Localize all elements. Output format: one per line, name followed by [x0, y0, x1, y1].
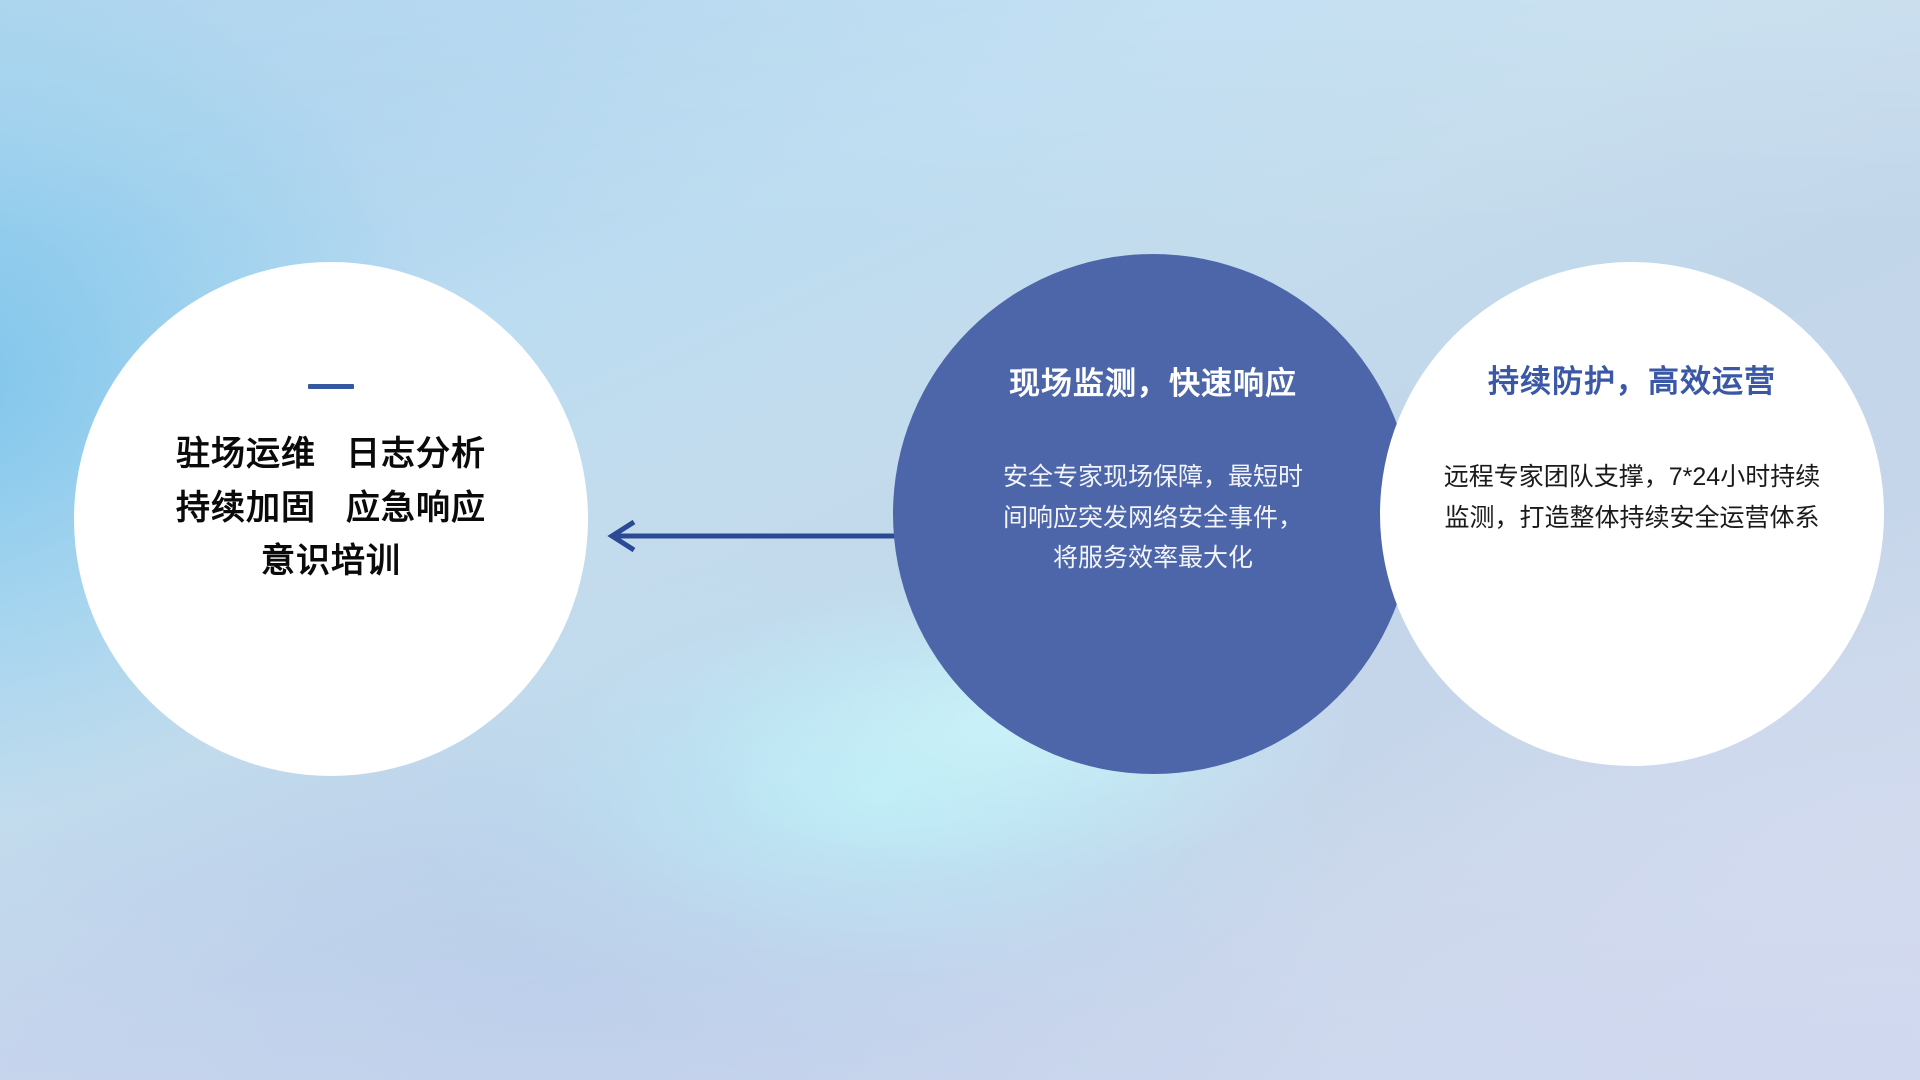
keyword-label: 持续加固 — [176, 489, 316, 527]
continuous-protection-body: 远程专家团队支撑，7*24小时持续监测，打造整体持续安全运营体系 — [1437, 457, 1827, 538]
arrow-left-icon — [600, 516, 900, 556]
keyword-label: 日志分析 — [346, 435, 486, 473]
keyword-row: 持续加固应急响应 — [176, 491, 486, 527]
slide-canvas: 驻场运维日志分析 持续加固应急响应 意识培训 现场监测，快速响应 安全专家现场保… — [0, 0, 1920, 1080]
keyword-row: 驻场运维日志分析 — [176, 437, 486, 473]
keyword-line-list: 驻场运维日志分析 持续加固应急响应 意识培训 — [176, 437, 486, 580]
onsite-monitoring-body: 安全专家现场保障，最短时间响应突发网络安全事件，将服务效率最大化 — [1003, 457, 1303, 579]
keyword-row: 意识培训 — [261, 544, 401, 580]
keywords-circle: 驻场运维日志分析 持续加固应急响应 意识培训 — [74, 262, 588, 776]
keyword-label: 意识培训 — [261, 542, 401, 580]
onsite-monitoring-title: 现场监测，快速响应 — [1009, 358, 1297, 403]
keyword-label: 驻场运维 — [176, 435, 316, 473]
continuous-protection-title: 持续防护，高效运营 — [1488, 356, 1776, 401]
horizontal-dash-icon — [308, 384, 354, 389]
keyword-label: 应急响应 — [346, 489, 486, 527]
continuous-protection-circle: 持续防护，高效运营 远程专家团队支撑，7*24小时持续监测，打造整体持续安全运营… — [1380, 262, 1884, 766]
onsite-monitoring-circle: 现场监测，快速响应 安全专家现场保障，最短时间响应突发网络安全事件，将服务效率最… — [893, 254, 1413, 774]
